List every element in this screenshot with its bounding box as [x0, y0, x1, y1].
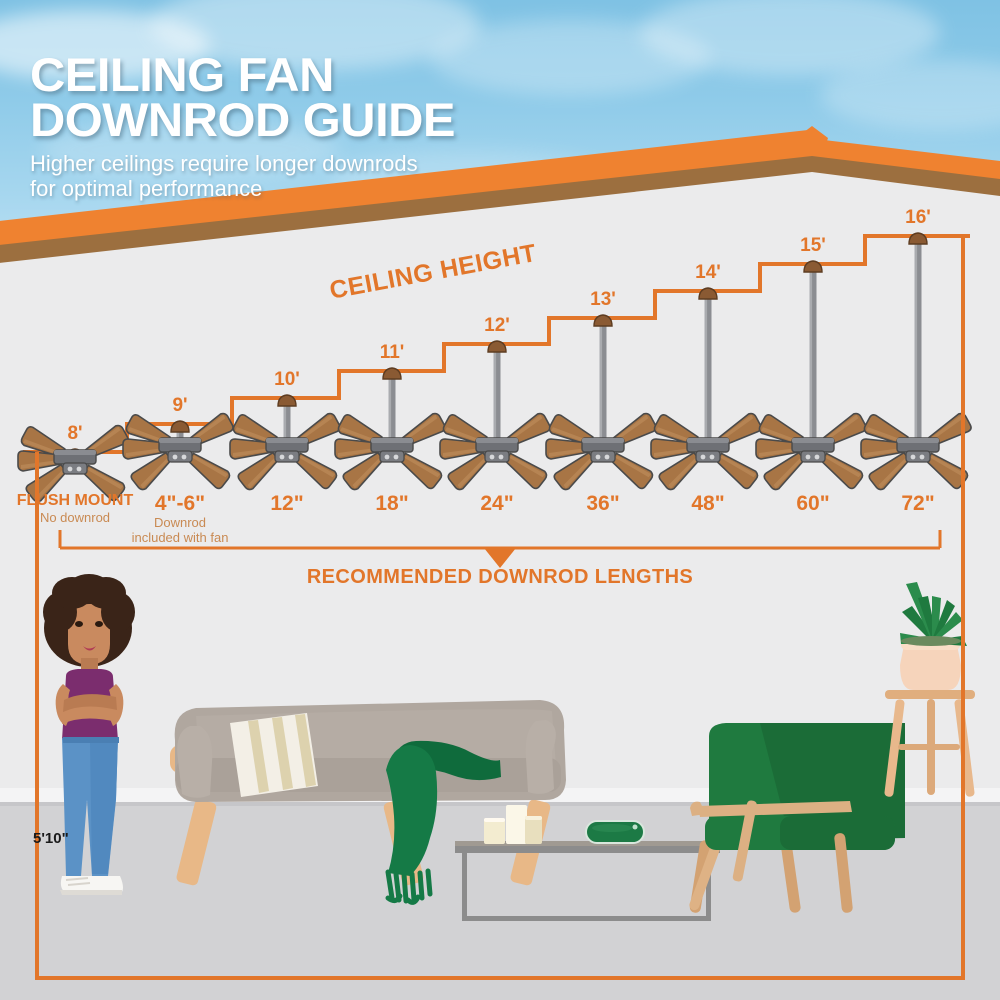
infographic-canvas: CEILING FAN DOWNROD GUIDE Higher ceiling… [0, 0, 1000, 1000]
ceiling-height-value-8: 15' [800, 235, 826, 257]
ceiling-height-value-7: 14' [695, 262, 721, 284]
downrod-length-value: FLUSH MOUNT [17, 493, 133, 510]
downrod-length-label-4: 18" [375, 493, 408, 515]
page-title-line2: DOWNROD GUIDE [30, 97, 592, 142]
downrod-length-value: 48" [691, 493, 724, 515]
downrod-length-value: 24" [480, 493, 513, 515]
ceiling-height-value-4: 11' [380, 342, 405, 364]
downrod-length-value: 36" [586, 493, 619, 515]
recommended-downrod-lengths-label: RECOMMENDED DOWNROD LENGTHS [307, 566, 693, 589]
downrod-length-label-2: 4"-6"Downrodincluded with fan [132, 493, 229, 546]
ceiling-height-value-3: 10' [274, 369, 300, 391]
downrod-length-value: 72" [901, 493, 934, 515]
downrod-note-2: included with fan [132, 530, 229, 545]
title-block: CEILING FAN DOWNROD GUIDE Higher ceiling… [30, 52, 570, 202]
page-subtitle-line1: Higher ceilings require longer downrods [30, 152, 570, 177]
downrod-length-label-5: 24" [480, 493, 513, 515]
downrod-length-value: 12" [270, 493, 303, 515]
downrod-note-1: Downrod [132, 515, 229, 530]
downrod-length-label-3: 12" [270, 493, 303, 515]
ceiling-height-value-5: 12' [484, 315, 510, 337]
person-height-label: 5'10" [33, 830, 69, 847]
page-subtitle-line2: for optimal performance [30, 177, 570, 202]
downrod-length-label-9: 72" [901, 493, 934, 515]
downrod-length-value: 60" [796, 493, 829, 515]
downrod-length-label-8: 60" [796, 493, 829, 515]
page-title-line1: CEILING FAN [30, 52, 592, 97]
downrod-length-label-1: FLUSH MOUNTNo downrod [17, 493, 133, 525]
downrod-length-label-7: 48" [691, 493, 724, 515]
downrod-length-label-6: 36" [586, 493, 619, 515]
ceiling-height-value-6: 13' [590, 289, 616, 311]
ceiling-height-value-1: 8' [67, 423, 82, 445]
ceiling-height-value-9: 16' [905, 207, 931, 229]
downrod-note-1: No downrod [17, 510, 133, 525]
downrod-length-value: 18" [375, 493, 408, 515]
ceiling-height-value-2: 9' [172, 395, 187, 417]
downrod-length-value: 4"-6" [132, 493, 229, 515]
